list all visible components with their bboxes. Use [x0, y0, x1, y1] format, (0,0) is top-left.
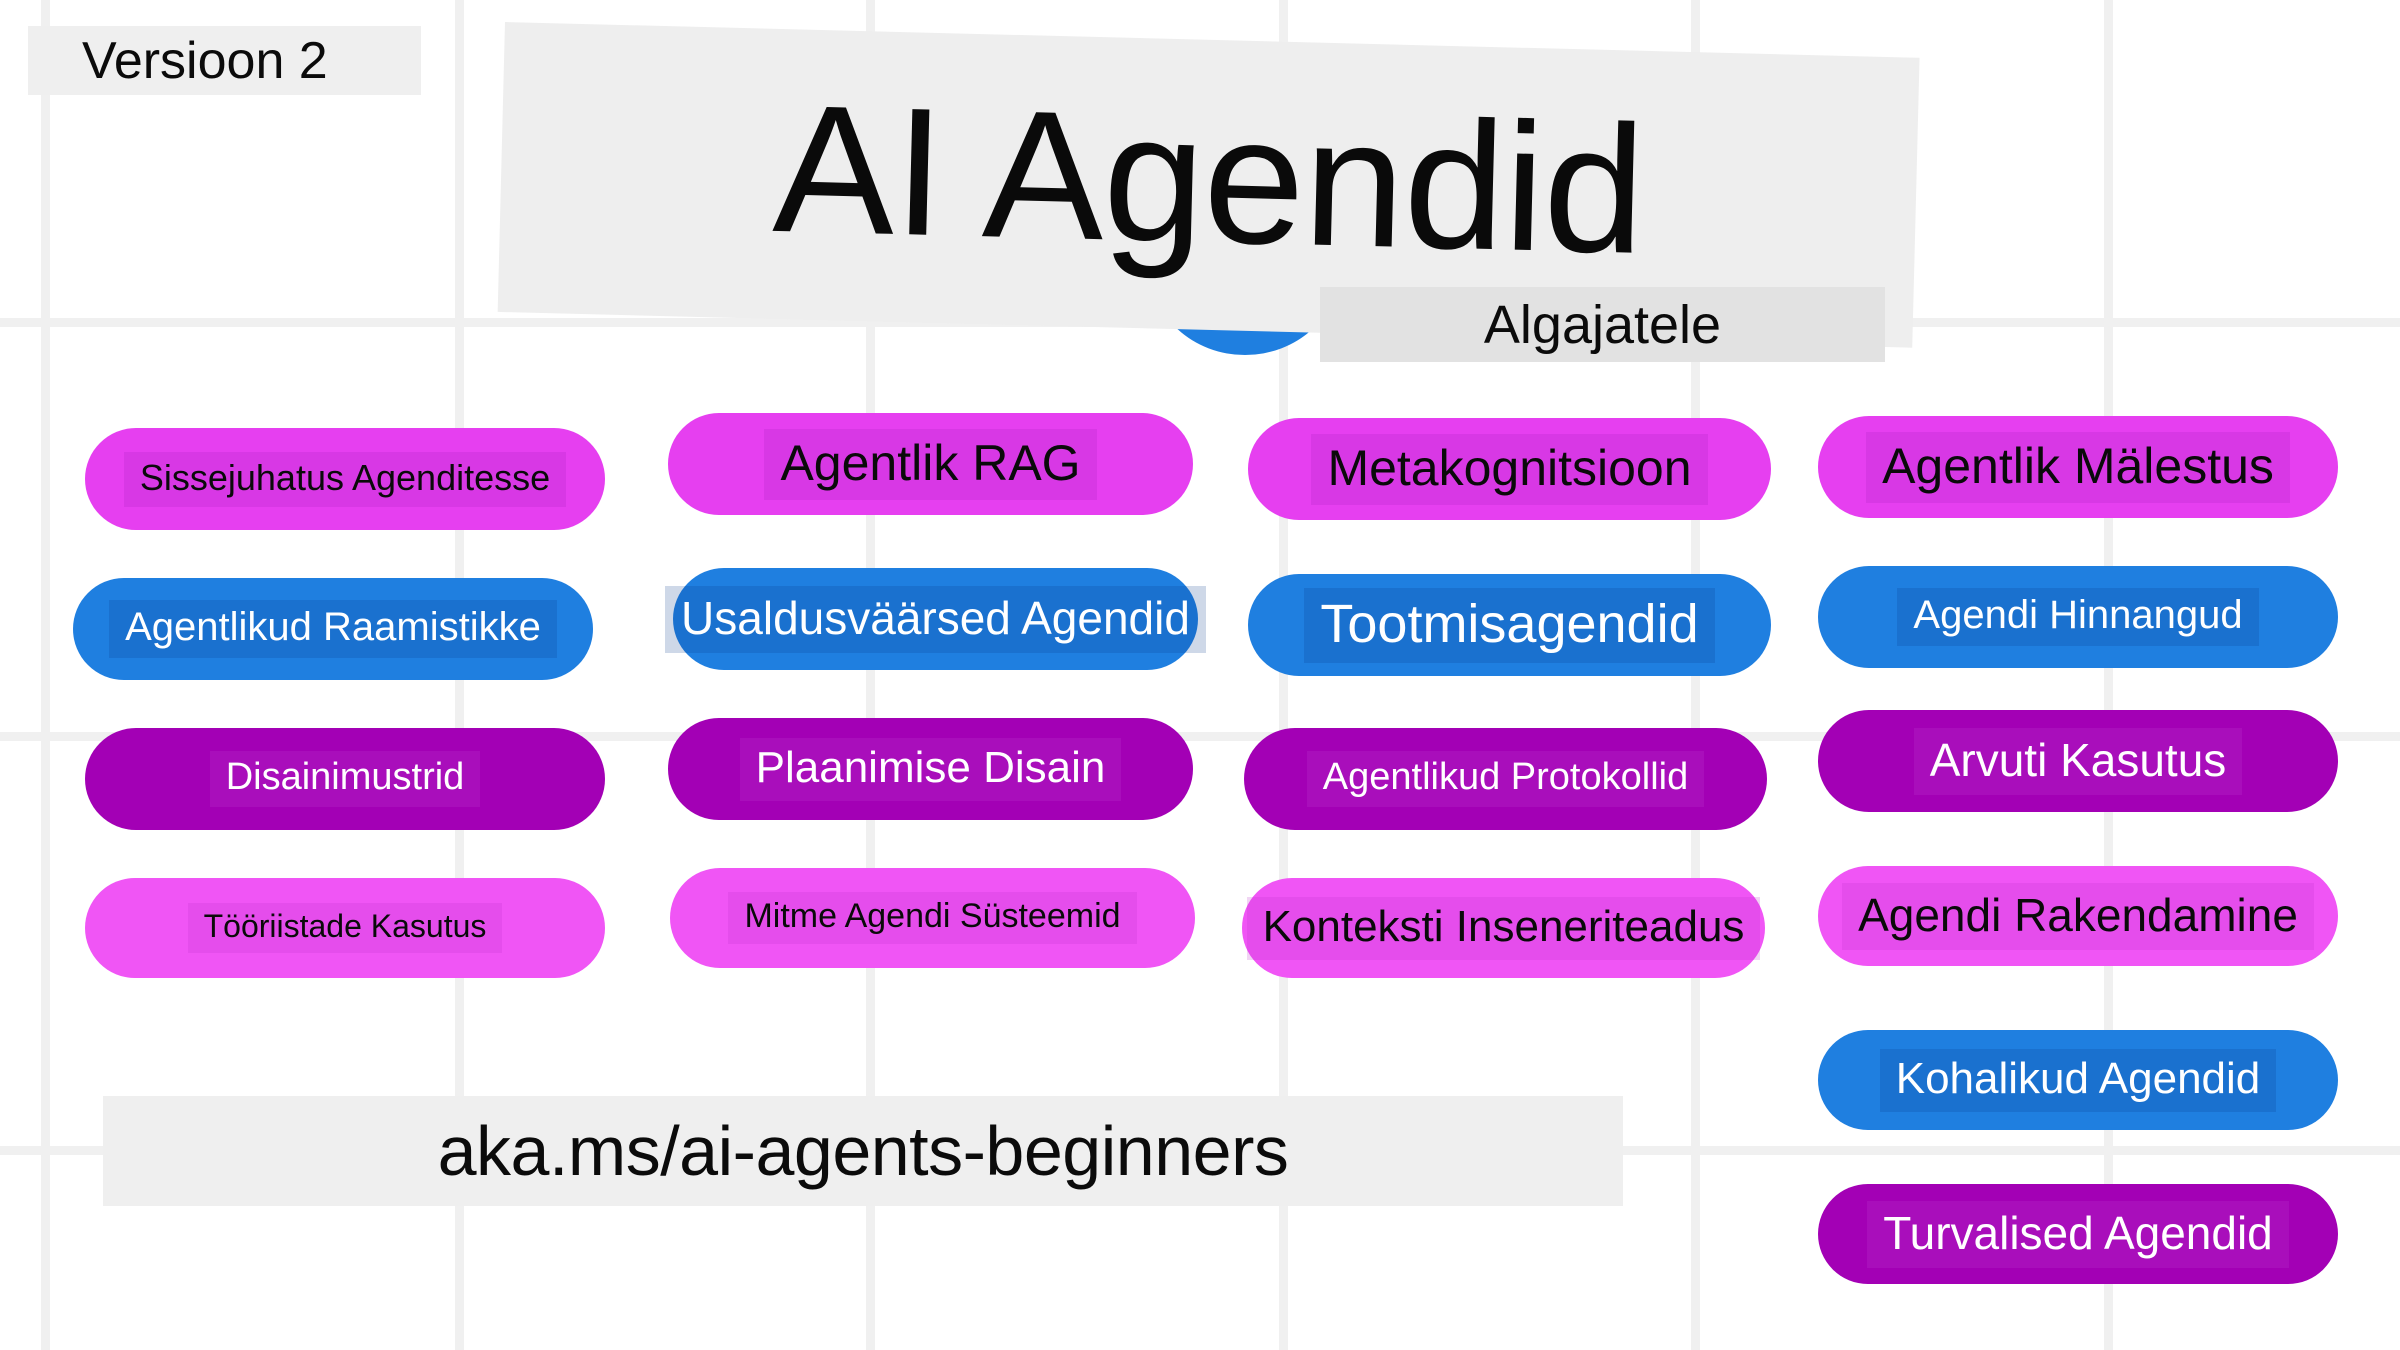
topic-pill-label: Agendi Rakendamine [1842, 883, 2314, 950]
topic-pill-label: Disainimustrid [210, 751, 481, 807]
subtitle-card: Algajatele [1320, 287, 1885, 362]
topic-pill-label: Sissejuhatus Agenditesse [124, 452, 566, 507]
topic-pill-label: Tootmisagendid [1304, 588, 1714, 663]
topic-pill[interactable]: Tootmisagendid [1248, 574, 1771, 676]
url-card[interactable]: aka.ms/ai-agents-beginners [103, 1096, 1623, 1206]
course-url-label: aka.ms/ai-agents-beginners [438, 1111, 1289, 1191]
topic-pill[interactable]: Agentlikud Raamistikke [73, 578, 593, 680]
version-badge: Versioon 2 [28, 26, 421, 95]
topic-pill[interactable]: Agentlik RAG [668, 413, 1193, 515]
topic-pill[interactable]: Usaldusväärsed Agendid [673, 568, 1198, 670]
topic-pill[interactable]: Mitme Agendi Süsteemid [670, 868, 1195, 968]
topic-pill[interactable]: Agendi Hinnangud [1818, 566, 2338, 668]
topic-pill-label: Agentlikud Protokollid [1307, 751, 1704, 807]
topic-pill[interactable]: Plaanimise Disain [668, 718, 1193, 820]
topic-pill-label: Agentlik RAG [764, 429, 1096, 500]
topic-pill[interactable]: Arvuti Kasutus [1818, 710, 2338, 812]
topic-pill[interactable]: Agentlikud Protokollid [1244, 728, 1767, 830]
topic-pill-label: Kohalikud Agendid [1880, 1049, 2277, 1112]
topic-pill-label: Agentlikud Raamistikke [109, 600, 557, 658]
topic-pill[interactable]: Metakognitsioon [1248, 418, 1771, 520]
topic-pill[interactable]: Agentlik Mälestus [1818, 416, 2338, 518]
topic-pill[interactable]: Disainimustrid [85, 728, 605, 830]
page-title: AI Agendid [771, 77, 1646, 281]
topic-pill-label: Tööriistade Kasutus [188, 903, 503, 953]
topic-pill-label: Agentlik Mälestus [1866, 432, 2290, 503]
topic-pill-label: Konteksti Inseneriteadus [1247, 897, 1761, 960]
topic-pill-label: Usaldusväärsed Agendid [665, 586, 1206, 653]
topic-pill-label: Agendi Hinnangud [1897, 588, 2258, 646]
topic-pill[interactable]: Agendi Rakendamine [1818, 866, 2338, 966]
topic-pill-label: Metakognitsioon [1311, 434, 1707, 505]
poster-canvas: Versioon 2 AI Agendid Algajatele Sisseju… [0, 0, 2400, 1350]
topic-pill-label: Mitme Agendi Süsteemid [728, 892, 1136, 944]
topic-pill[interactable]: Tööriistade Kasutus [85, 878, 605, 978]
topic-pill-label: Turvalised Agendid [1867, 1201, 2289, 1268]
topic-pill[interactable]: Kohalikud Agendid [1818, 1030, 2338, 1130]
topic-pill[interactable]: Konteksti Inseneriteadus [1242, 878, 1765, 978]
topic-pill[interactable]: Sissejuhatus Agenditesse [85, 428, 605, 530]
topic-pill[interactable]: Turvalised Agendid [1818, 1184, 2338, 1284]
topic-pill-label: Arvuti Kasutus [1914, 728, 2243, 795]
page-subtitle: Algajatele [1484, 294, 1721, 356]
version-badge-label: Versioon 2 [28, 31, 328, 91]
topic-pill-label: Plaanimise Disain [740, 738, 1122, 801]
